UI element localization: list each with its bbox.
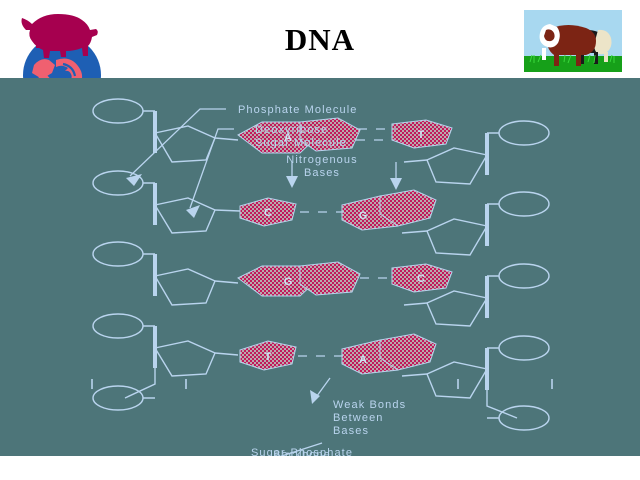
slide: DNA [0,0,640,480]
slide-footer [0,456,640,480]
base-letter: A [359,354,367,366]
base-pair-row-2: C G [240,190,436,230]
slide-header: DNA [0,0,640,78]
phosphate-ellipse [499,192,549,216]
phosphate-ellipse [93,386,143,410]
hydrogen-bond [356,129,396,140]
sugar-pentagon [155,198,215,233]
label-weak-bonds-line2: Between [333,412,384,424]
label-phosphate-molecule: Phosphate Molecule [238,104,357,116]
phosphate-ellipse [93,99,143,123]
label-nitrogenous-line1: Nitrogenous [286,154,357,166]
base-letter: C [417,273,425,285]
base-pair-row-4: T A [240,334,436,374]
base-letter: G [359,210,368,222]
phosphate-ellipse [499,264,549,288]
label-deoxyribose-line1: Deoxyribose [255,124,328,136]
sugar-pentagon [427,291,487,326]
phosphate-ellipse [499,406,549,430]
label-nitrogenous-line2: Bases [304,167,340,179]
sugar-pentagon [155,269,215,305]
phosphate-ellipse [93,242,143,266]
dna-diagram: A T C G [0,78,640,456]
continuation-ticks [92,379,552,389]
label-deoxyribose-line2: Sugar Molecule [255,137,347,149]
base-letter: C [264,207,272,219]
label-weak-bonds-line1: Weak Bonds [333,399,406,411]
sugar-pentagon [427,219,487,255]
base-letter: T [418,129,425,141]
sugar-pentagon [155,341,215,376]
dna-diagram-panel: A T C G [0,78,640,456]
sugar-pentagon [427,362,487,398]
base-pair-row-3: G C [238,262,452,296]
phosphate-ellipse [499,121,549,145]
phosphate-ellipse [93,314,143,338]
cattle-photo [524,10,622,72]
base-letter: T [265,351,272,363]
base-letter: G [284,276,293,288]
sugar-pentagon [427,148,487,184]
label-weak-bonds-line3: Bases [333,425,369,437]
phosphate-ellipse [499,336,549,360]
